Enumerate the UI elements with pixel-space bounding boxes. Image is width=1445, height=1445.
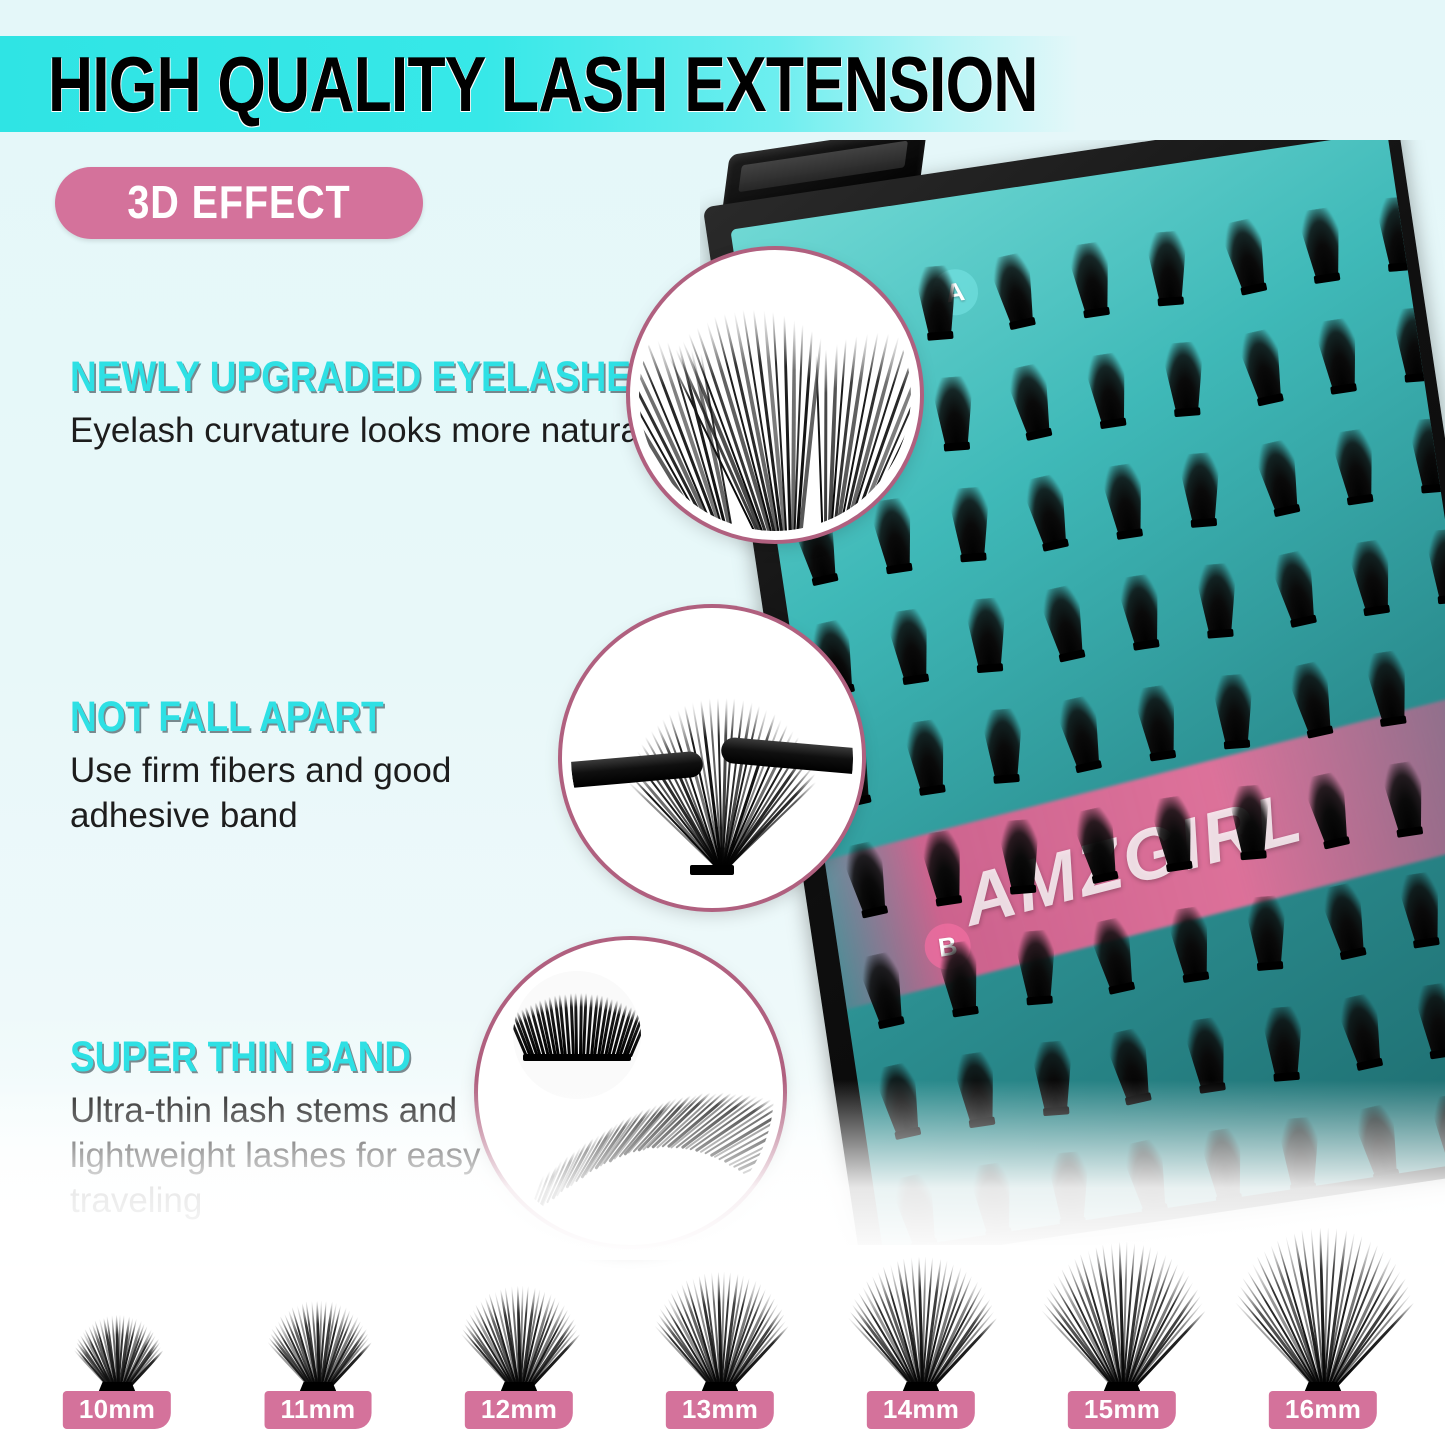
lash-strip [527,1059,757,1209]
feature-2-body: Use firm fibers and good adhesive band [70,748,600,838]
feature-2-heading: NOT FALL APART [70,692,526,742]
lash-cluster [1044,212,1137,328]
lash-cluster-fan [1260,1240,1386,1393]
size-label-16mm: 16mm [1269,1391,1377,1429]
lash-cluster [1160,987,1253,1103]
callout-tweezers-pulling-lash-cluster-icon [562,608,862,908]
lash-cluster-fan [78,1321,156,1393]
callout-lash-strip-thin-band-icon [478,940,783,1245]
size-sample-15mm: 15mm [1027,1254,1217,1394]
badge-3d-effect-label: 3D EFFECT [81,167,397,239]
callout-1-content [639,259,911,531]
lash-cluster-fan [866,1267,976,1393]
lash-cluster-fan [472,1294,566,1393]
lash-cluster [1308,399,1401,515]
lash-cluster [1190,646,1276,758]
page-title: HIGH QUALITY LASH EXTENSION [48,40,1038,128]
size-label-11mm: 11mm [265,1391,372,1429]
lash-cluster [1110,655,1203,771]
lash-cluster [1124,203,1210,315]
lash-fiber [815,355,824,531]
callout-magnified-lash-fibers-icon [630,250,920,540]
lash-cluster [1207,756,1293,868]
feature-1-heading: NEWLY UPGRADED EYELASHES [70,352,586,402]
size-sample-13mm: 13mm [625,1281,815,1394]
lash-cluster [929,1022,1022,1138]
feature-3-body: Ultra-thin lash stems and lightweight la… [70,1088,490,1223]
size-sample-14mm: 14mm [826,1267,1016,1393]
lash-cluster [1127,766,1220,882]
band-fiber [574,993,578,1057]
lash-cluster [1157,424,1243,536]
size-comparison-row: 10mm11mm12mm13mm14mm15mm16mm [0,1232,1445,1445]
lash-cluster [1094,544,1187,660]
product-infographic: HIGH QUALITY LASH EXTENSION 3D EFFECT AM… [0,0,1445,1445]
lash-cluster [913,911,1006,1027]
callout-3-content [487,949,774,1236]
feature-block-3: SUPER THIN BAND Ultra-thin lash stems an… [70,1032,490,1223]
lash-cluster [946,1133,1039,1245]
lash-cluster-fan [1063,1254,1181,1394]
size-label-12mm: 12mm [465,1391,573,1429]
lash-cluster [1358,731,1445,847]
feature-block-2: NOT FALL APART Use firm fibers and good … [70,692,600,838]
lash-cluster-fan [669,1281,771,1394]
lash-cluster [1174,535,1260,647]
lash-cluster [1291,288,1384,404]
lash-cluster [1141,313,1227,425]
lash-cluster [1324,510,1417,626]
feature-block-1: NEWLY UPGRADED EYELASHES Eyelash curvatu… [70,352,670,453]
size-sample-16mm: 16mm [1228,1240,1418,1393]
size-label-14mm: 14mm [867,1391,975,1429]
lash-cluster [1077,433,1170,549]
size-sample-12mm: 12mm [424,1294,614,1393]
lash-cluster [1275,177,1368,293]
badge-3d-effect: 3D EFFECT [55,167,423,239]
lash-fiber [824,349,827,531]
lash-cluster [863,579,956,695]
size-sample-11mm: 11mm [223,1308,413,1394]
size-sample-10mm: 10mm [22,1321,212,1393]
size-label-15mm: 15mm [1068,1391,1176,1429]
lash-cluster [1405,500,1445,612]
lash-cluster [1143,876,1236,992]
feature-3-heading: SUPER THIN BAND [70,1032,431,1082]
lash-cluster [1224,867,1310,979]
lash-cluster [879,689,972,805]
lash-cluster [1341,620,1434,736]
size-label-10mm: 10mm [63,1391,171,1429]
lash-cluster-stem [690,865,734,875]
lash-cluster [1240,978,1326,1090]
lash-cluster [1061,323,1154,439]
lash-cluster-fan [275,1308,361,1394]
lash-cluster [896,800,989,916]
feature-1-body: Eyelash curvature looks more natural [70,408,670,453]
callout-2-content [571,617,853,899]
size-label-13mm: 13mm [666,1391,774,1429]
